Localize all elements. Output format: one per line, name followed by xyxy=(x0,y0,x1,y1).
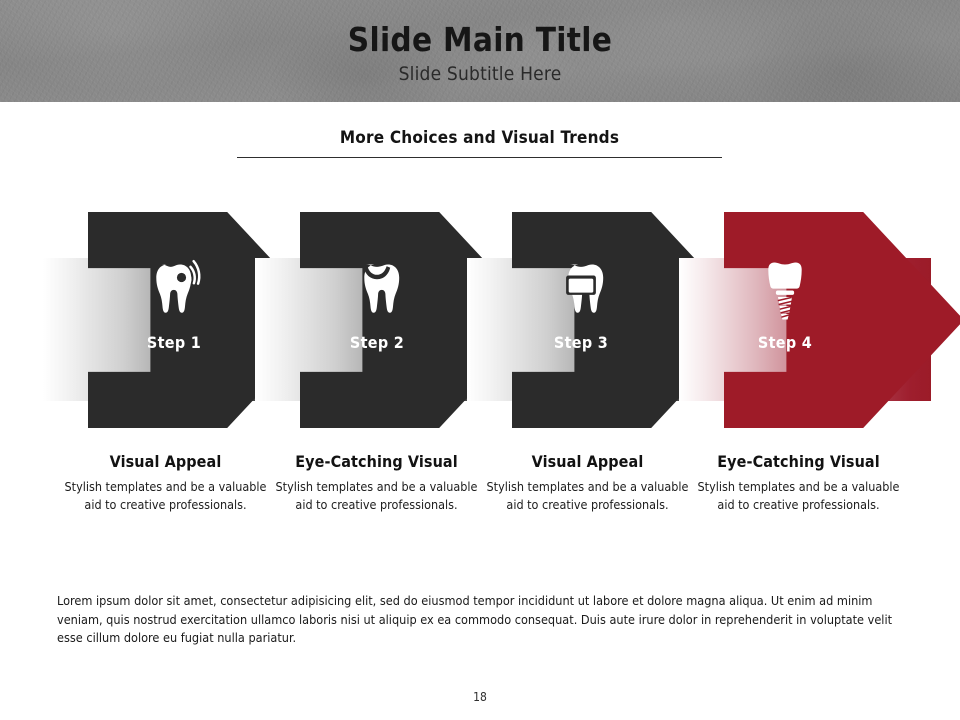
caption-column-4: Eye-Catching Visual Stylish templates an… xyxy=(693,452,904,514)
page-number: 18 xyxy=(0,690,960,704)
caption-title: Eye-Catching Visual xyxy=(697,452,900,471)
caption-column-3: Visual Appeal Stylish templates and be a… xyxy=(482,452,693,514)
step-1-label: Step 1 xyxy=(147,333,201,352)
section-divider xyxy=(237,157,722,158)
caption-column-1: Visual Appeal Stylish templates and be a… xyxy=(60,452,271,514)
caption-body: Stylish templates and be a valuable aid … xyxy=(64,478,267,514)
step-4-label: Step 4 xyxy=(758,333,812,352)
section-title: More Choices and Visual Trends xyxy=(237,128,722,148)
caption-title: Visual Appeal xyxy=(486,452,689,471)
step-4-content: Step 4 xyxy=(725,253,845,352)
section-heading-block: More Choices and Visual Trends xyxy=(237,128,722,158)
step-1-content: Step 1 xyxy=(114,253,234,352)
caption-body: Stylish templates and be a valuable aid … xyxy=(275,478,478,514)
caption-column-2: Eye-Catching Visual Stylish templates an… xyxy=(271,452,482,514)
dental-implant-icon xyxy=(753,253,817,325)
process-arrow-diagram: Step 1 Step 2 Step 3 xyxy=(0,205,960,435)
caption-title: Eye-Catching Visual xyxy=(275,452,478,471)
tooth-crown-icon xyxy=(549,253,613,325)
step-2-content: Step 2 xyxy=(317,253,437,352)
caption-body: Stylish templates and be a valuable aid … xyxy=(697,478,900,514)
footer-paragraph: Lorem ipsum dolor sit amet, consectetur … xyxy=(57,592,905,648)
tooth-sensitivity-icon xyxy=(142,253,206,325)
page-subtitle: Slide Subtitle Here xyxy=(399,63,562,85)
slide-header: Slide Main Title Slide Subtitle Here xyxy=(0,0,960,102)
slide-canvas: Slide Main Title Slide Subtitle Here Mor… xyxy=(0,0,960,720)
tooth-filling-icon xyxy=(345,253,409,325)
caption-title: Visual Appeal xyxy=(64,452,267,471)
caption-columns: Visual Appeal Stylish templates and be a… xyxy=(60,452,905,514)
step-2-label: Step 2 xyxy=(350,333,404,352)
caption-body: Stylish templates and be a valuable aid … xyxy=(486,478,689,514)
step-3-content: Step 3 xyxy=(521,253,641,352)
implant-screw xyxy=(778,297,792,320)
cavity-dot xyxy=(177,273,186,282)
header-inner: Slide Main Title Slide Subtitle Here xyxy=(0,0,960,102)
step-3-label: Step 3 xyxy=(554,333,608,352)
page-title: Slide Main Title xyxy=(348,22,612,58)
